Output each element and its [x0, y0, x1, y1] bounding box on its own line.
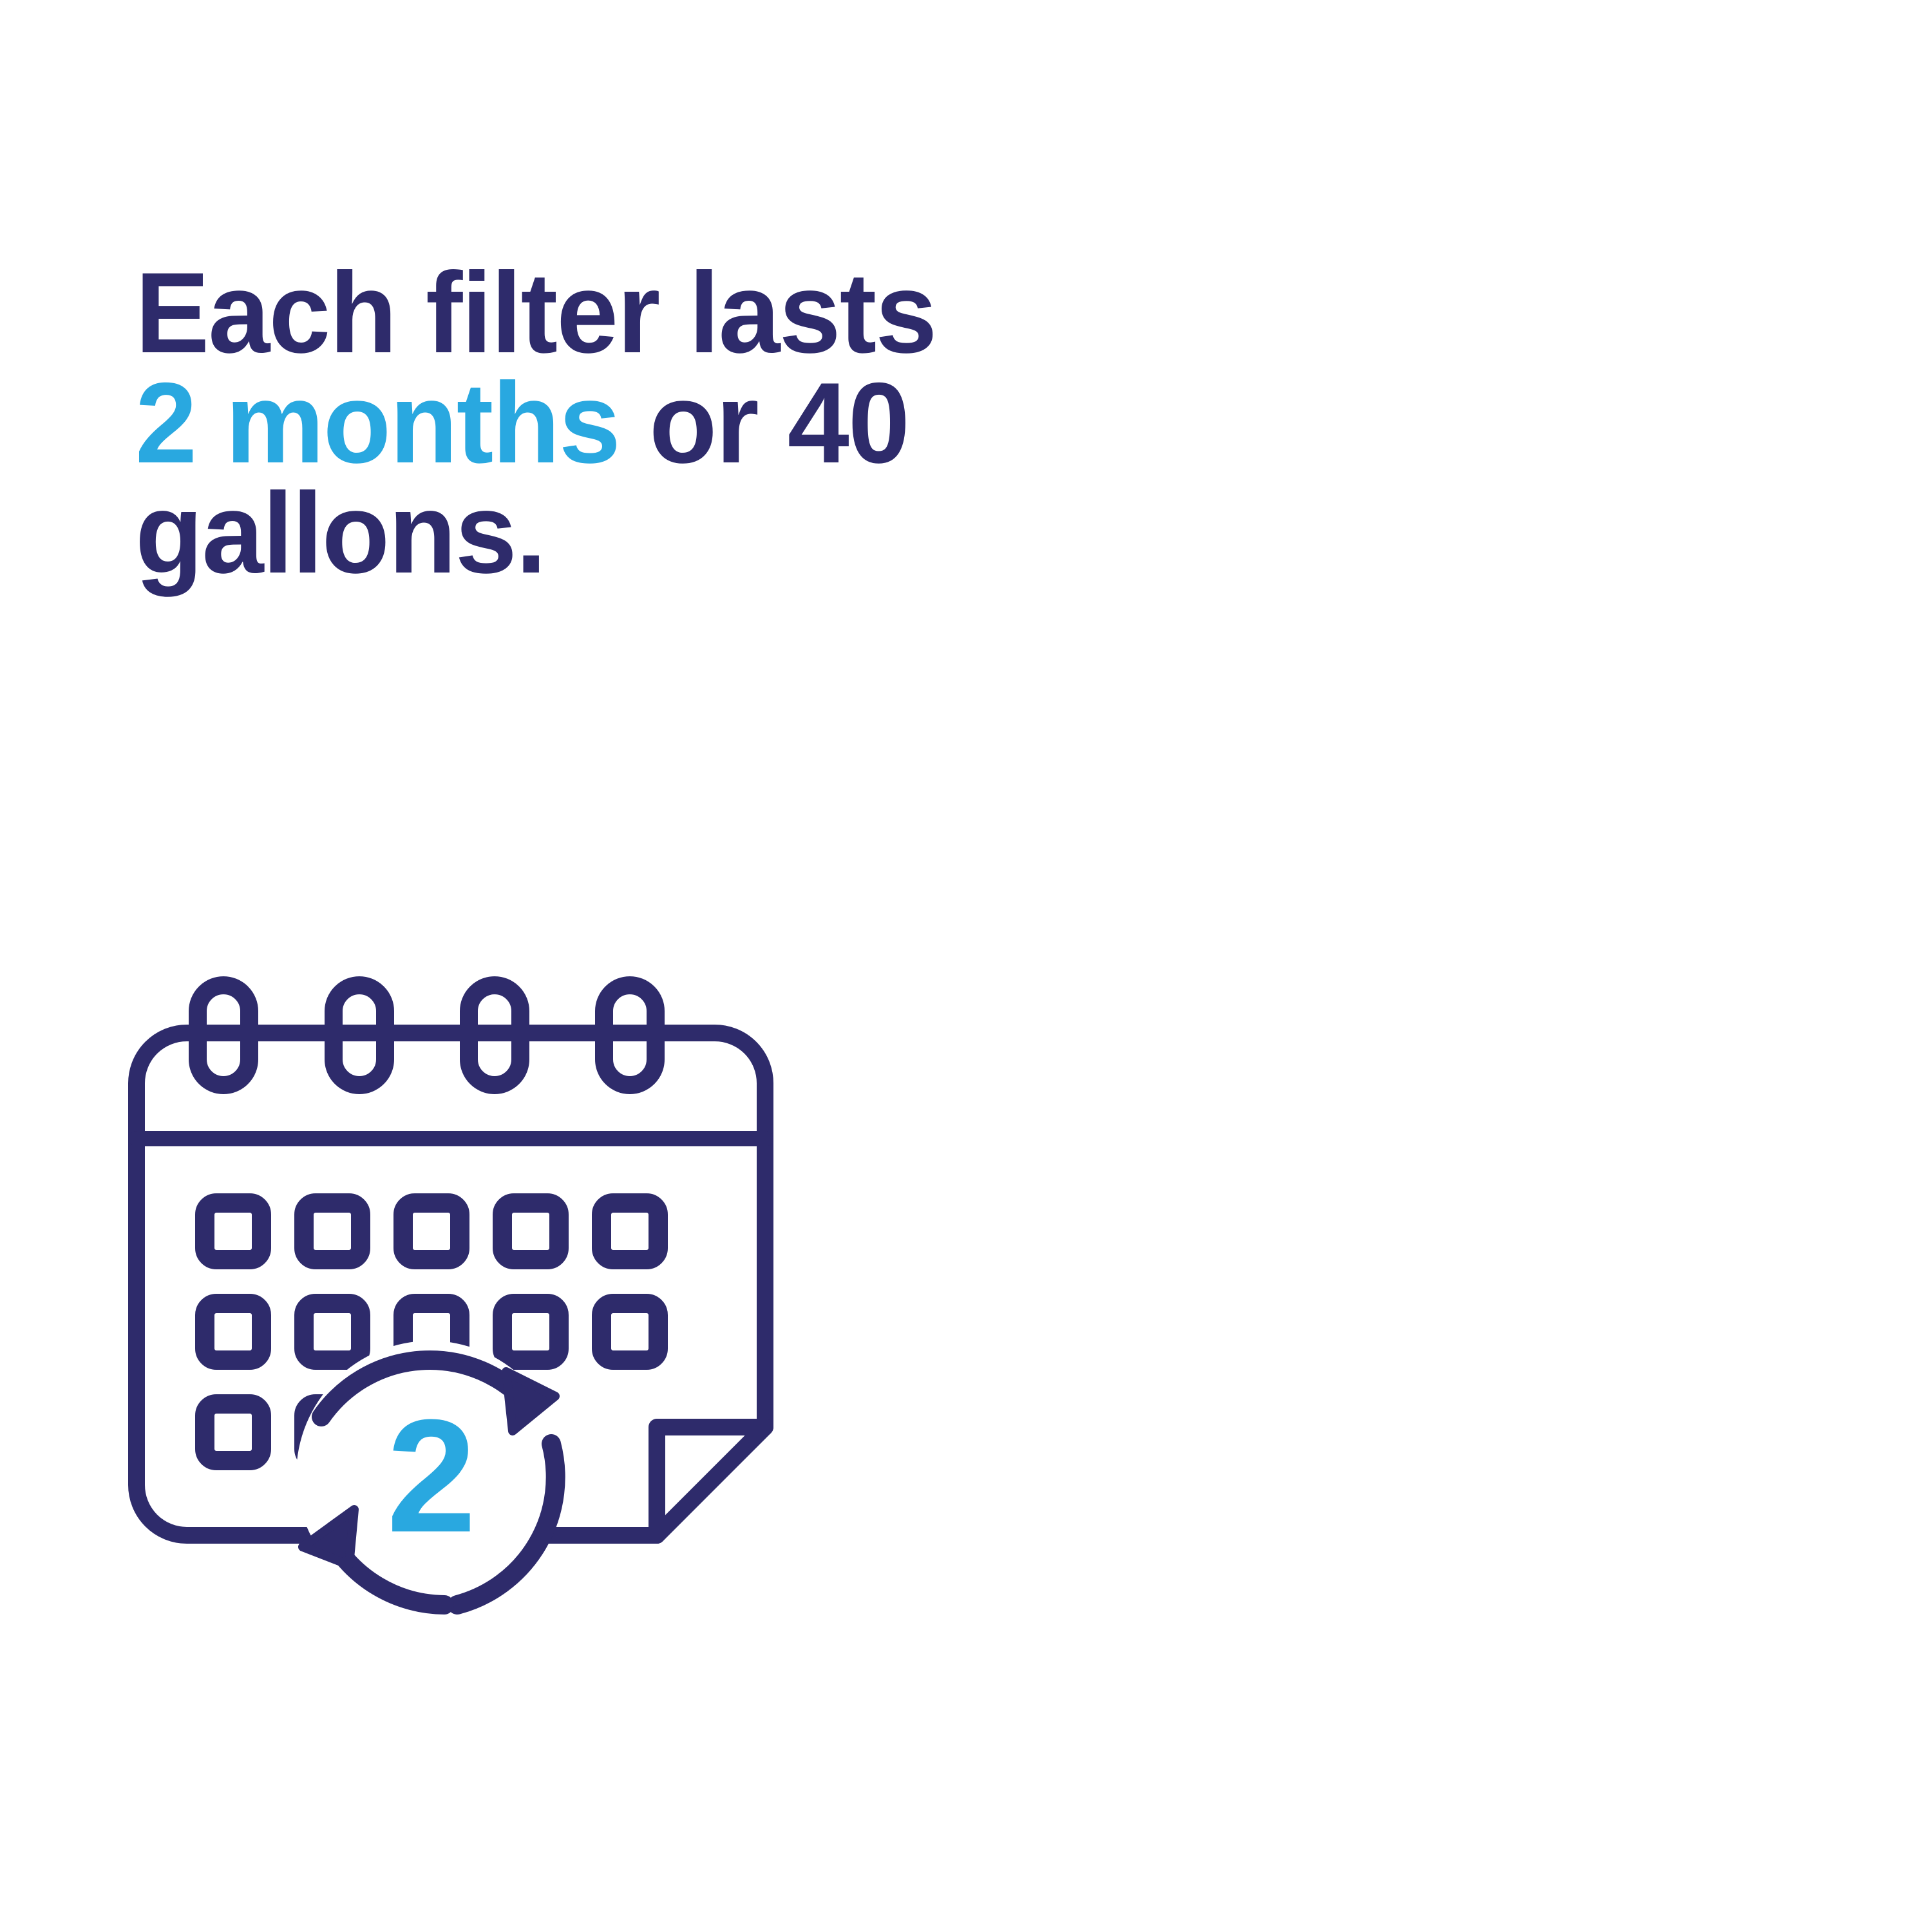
headline-line-3: gallons. — [135, 478, 1479, 588]
infographic-canvas: Each filter lasts 2 months or 40 gallons… — [0, 0, 1932, 1932]
calendar-day-cell — [304, 1303, 361, 1360]
headline-accent-phrase: 2 months — [135, 359, 620, 487]
calendar-day-cell — [502, 1203, 559, 1260]
calendar-day-cell — [403, 1203, 460, 1260]
page-title: Each filter lasts 2 months or 40 gallons… — [135, 258, 1479, 588]
calendar-day-cell — [205, 1203, 261, 1260]
calendar-day-cell — [304, 1203, 361, 1260]
calendar-day-cell — [601, 1203, 658, 1260]
badge-count-value: 2 — [386, 1386, 473, 1566]
headline-line-3-text: gallons. — [135, 469, 545, 597]
calendar-day-cell — [205, 1404, 261, 1461]
calendar-day-cell — [502, 1303, 559, 1360]
calendar-day-cell — [205, 1303, 261, 1360]
headline-line-1: Each filter lasts — [135, 258, 1479, 368]
calendar-recycle-icon: 2 — [97, 966, 805, 1687]
headline-line-1-text: Each filter lasts — [135, 249, 936, 377]
headline-line-2: 2 months or 40 — [135, 368, 1479, 478]
headline-line-2-rest: or 40 — [620, 359, 909, 487]
calendar-day-cell — [601, 1303, 658, 1360]
